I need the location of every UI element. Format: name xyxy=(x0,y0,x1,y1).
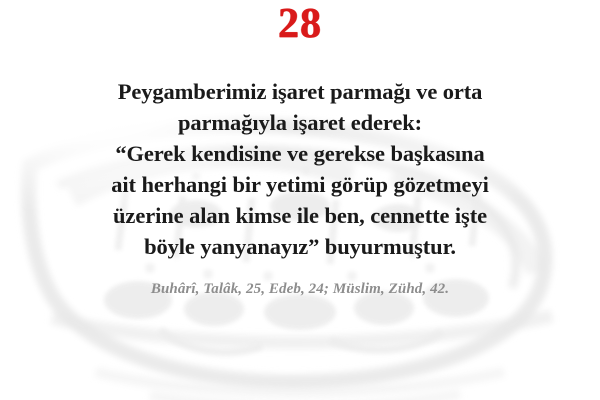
hadith-line-4: ait herhangi bir yetimi görüp gözetmeyi xyxy=(30,169,570,200)
card-content: 28 Peygamberimiz işaret parmağı ve orta … xyxy=(0,0,600,400)
hadith-line-5: üzerine alan kimse ile ben, cennette işt… xyxy=(30,200,570,231)
hadith-line-2: parmağıyla işaret ederek: xyxy=(30,107,570,138)
hadith-card: 28 Peygamberimiz işaret parmağı ve orta … xyxy=(0,0,600,400)
hadith-source-citation: Buhârî, Talâk, 25, Edeb, 24; Müslim, Züh… xyxy=(151,280,449,298)
hadith-line-1: Peygamberimiz işaret parmağı ve orta xyxy=(30,76,570,107)
hadith-text: Peygamberimiz işaret parmağı ve orta par… xyxy=(30,76,570,262)
hadith-line-3: “Gerek kendisine ve gerekse başkasına xyxy=(30,138,570,169)
hadith-line-6: böyle yanyanayız” buyurmuştur. xyxy=(30,231,570,262)
hadith-number-badge: 28 xyxy=(278,2,322,46)
